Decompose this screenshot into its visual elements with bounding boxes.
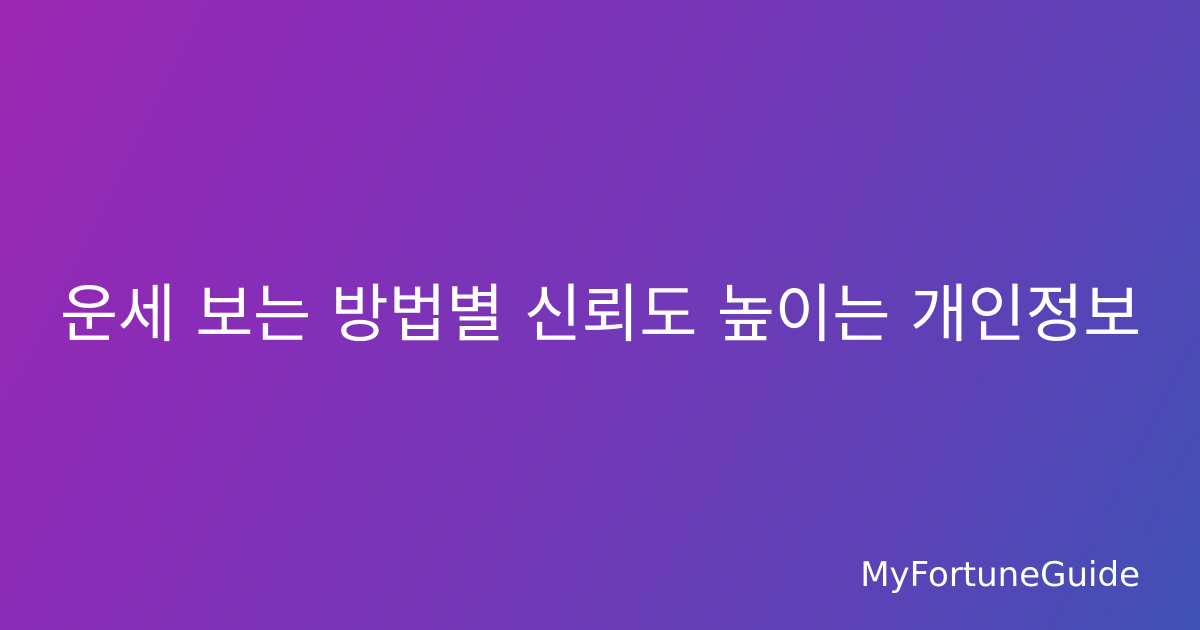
card-content: 운세 보는 방법별 신뢰도 높이는 개인정보 — [0, 0, 1200, 630]
page-title: 운세 보는 방법별 신뢰도 높이는 개인정보 — [60, 274, 1140, 356]
brand-footer: MyFortuneGuide — [860, 558, 1140, 592]
brand-name: MyFortuneGuide — [860, 558, 1140, 592]
share-card: 운세 보는 방법별 신뢰도 높이는 개인정보 MyFortuneGuide — [0, 0, 1200, 630]
